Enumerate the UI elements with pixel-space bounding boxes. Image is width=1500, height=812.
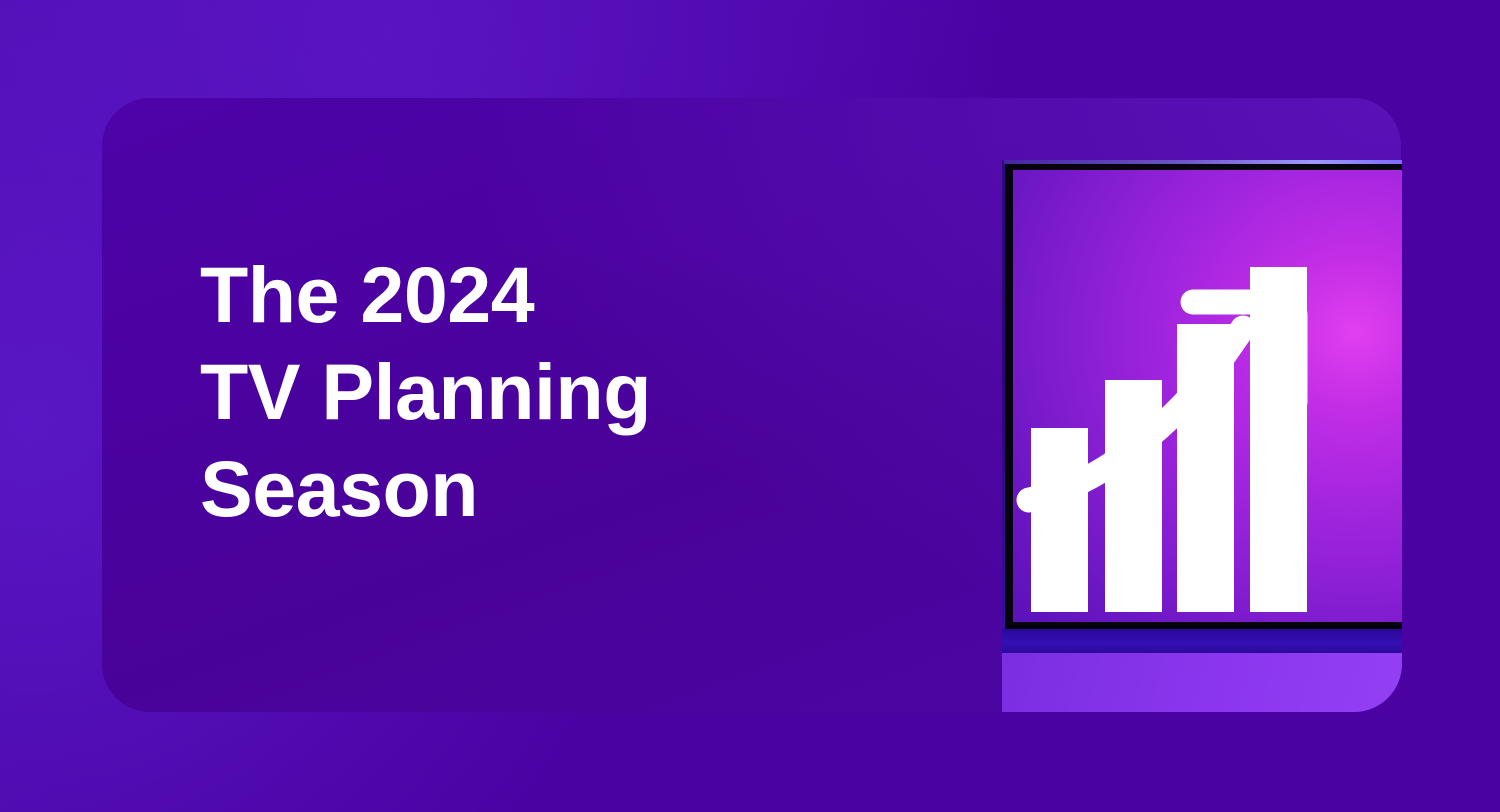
bar-1: [1031, 428, 1088, 612]
chart-plinth: [1002, 629, 1402, 653]
growth-bar-chart-icon: [1002, 160, 1402, 712]
bar-3: [1177, 324, 1234, 612]
page-title: The 2024 TV Planning Season: [200, 246, 820, 537]
chart-plot-area: [1013, 170, 1402, 622]
bar-4: [1250, 267, 1307, 612]
hero-banner: The 2024 TV Planning Season: [0, 0, 1500, 812]
chart-screen: [1013, 170, 1402, 622]
bar-2: [1105, 380, 1162, 612]
